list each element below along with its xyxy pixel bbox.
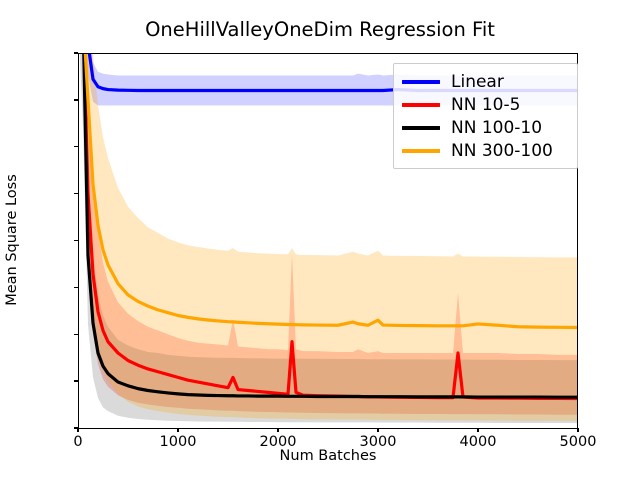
axis-spine-top — [78, 53, 578, 54]
x-tick-mark — [377, 428, 378, 432]
axis-spine-left — [78, 53, 79, 429]
y-tick-mark — [74, 240, 78, 241]
x-tick-mark — [277, 428, 278, 432]
legend-swatch-icon — [402, 126, 440, 130]
y-tick-mark — [74, 380, 78, 381]
y-tick-mark — [74, 146, 78, 147]
x-axis-label: Num Batches — [280, 448, 377, 464]
legend-item-label: NN 300-100 — [451, 141, 553, 161]
y-tick-mark — [74, 193, 78, 194]
x-tick-mark — [77, 428, 78, 432]
legend-box: LinearNN 10-5NN 100-10NN 300-100 — [393, 63, 578, 169]
x-tick-label: 4000 — [460, 434, 497, 450]
legend-item-nn-10-5[interactable]: NN 10-5 — [402, 93, 569, 116]
legend-item-linear[interactable]: Linear — [402, 70, 569, 93]
x-tick-mark — [577, 428, 578, 432]
x-tick-label: 0 — [73, 434, 82, 450]
y-tick-mark — [74, 287, 78, 288]
legend-swatch-icon — [402, 80, 440, 84]
y-axis-label: Mean Square Loss — [4, 174, 20, 306]
legend-item-nn-300-100[interactable]: NN 300-100 — [402, 139, 569, 162]
legend-swatch-icon — [402, 103, 440, 107]
y-tick-mark — [74, 99, 78, 100]
x-tick-mark — [177, 428, 178, 432]
legend-item-nn-100-10[interactable]: NN 100-10 — [402, 116, 569, 139]
legend-item-label: Linear — [451, 72, 504, 92]
y-tick-mark — [74, 52, 78, 53]
figure-canvas: OneHillValleyOneDim Regression Fit 0.000… — [0, 0, 640, 480]
legend-swatch-icon — [402, 149, 440, 153]
page-title: OneHillValleyOneDim Regression Fit — [0, 18, 640, 41]
legend-item-label: NN 10-5 — [451, 95, 520, 115]
axis-spine-bottom — [78, 428, 578, 429]
x-tick-label: 1000 — [160, 434, 197, 450]
legend-item-label: NN 100-10 — [451, 118, 542, 138]
x-tick-mark — [477, 428, 478, 432]
x-tick-label: 5000 — [560, 434, 597, 450]
y-tick-mark — [74, 334, 78, 335]
